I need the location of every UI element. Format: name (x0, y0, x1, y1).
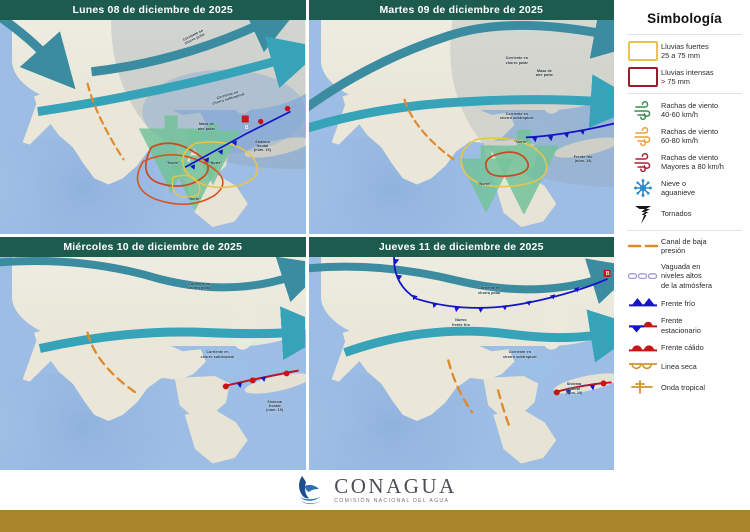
legend-label-wind-80-plus: Rachas de viento Mayores a 80 km/h (661, 153, 724, 172)
frontal-system-label: Sistema frontal (núm. 19) (260, 400, 290, 413)
wind-gust-red-icon (625, 152, 661, 172)
jet-arrow-polar (0, 260, 291, 286)
jet-polar-label: Corriente en chorro polar (467, 286, 511, 294)
low-pressure-trough-1 (448, 360, 472, 412)
jet-polar-label: Corriente en chorro polar (177, 282, 221, 290)
panel-miercoles-overlay (0, 257, 305, 451)
legend-label-cold-front: Frente frío (661, 299, 695, 308)
legend-label-trough: Canal de baja presión (661, 237, 707, 256)
cold-front-label: Frente frío (núm. 19) (568, 155, 598, 163)
low-pressure-marker: B (243, 126, 250, 132)
legend-label-snow: Nieve o aguanieve (661, 179, 695, 198)
footer-gold-bar (0, 510, 750, 532)
tornado-icon (625, 204, 661, 224)
stationary-front-icon (625, 318, 661, 334)
jet-subtropical-label: Corriente en chorro subtropical (192, 350, 242, 358)
cold-front-icon (625, 296, 661, 310)
wind-gust-orange-icon (625, 126, 661, 146)
upper-level-trough-icon (625, 271, 661, 281)
norte-label-1: "Norte" (162, 161, 184, 165)
legend-label-dry-line: Linea seca (661, 362, 697, 371)
legend-item-dry-line[interactable]: Linea seca (625, 360, 744, 373)
legend-label-tropical-wave: Onda tropical (661, 383, 705, 392)
panel-lunes-map: Corriente en chorro polar Corriente en c… (0, 20, 306, 234)
norte-label-2: "Norte" (205, 161, 227, 165)
legend-panel: Simbología Lluvias fuertes 25 a 75 mm Ll… (617, 0, 750, 470)
panel-miercoles[interactable]: Miércoles 10 de diciembre de 2025 (0, 237, 306, 471)
conagua-logo: CONAGUA COMISIÓN NACIONAL DEL AGUA (293, 473, 457, 507)
legend-item-snow[interactable]: Nieve o aguanieve (625, 178, 744, 198)
legend-item-upper-trough[interactable]: Vaguada en niveles altos de la atmósfera (625, 262, 744, 290)
panel-jueves-map: Corriente en chorro polar Corriente en c… (309, 257, 615, 471)
panel-martes-title: Martes 09 de diciembre de 2025 (309, 0, 615, 20)
jet-subtropical-label: Corriente en chorro subtropical (495, 350, 545, 358)
legend-label-tornado: Tornados (661, 209, 691, 218)
legend-item-tropical-wave[interactable]: Onda tropical (625, 379, 744, 395)
forecast-map-grid: Lunes 08 de diciembre de 2025 (0, 0, 614, 470)
legend-item-cold-front[interactable]: Frente frío (625, 296, 744, 310)
legend-item-warm-front[interactable]: Frente cálido (625, 341, 744, 354)
dry-line-icon (625, 360, 661, 373)
legend-item-trough[interactable]: Canal de baja presión (625, 237, 744, 256)
tropical-wave-icon (625, 379, 661, 395)
jet-subtropical-label: Corriente en chorro subtropical (492, 112, 542, 120)
low-pressure-trough-2 (498, 390, 510, 428)
polar-air-mass-label: Masa de aire polar (189, 122, 223, 130)
panel-jueves-overlay (309, 257, 614, 451)
jet-arrow-subtropical (40, 331, 291, 348)
low-pressure-marker: B (604, 272, 611, 278)
low-pressure-box (242, 116, 249, 123)
panel-miercoles-title: Miércoles 10 de diciembre de 2025 (0, 237, 306, 257)
legend-item-stationary-front[interactable]: Frente estacionario (625, 316, 744, 335)
panel-lunes[interactable]: Lunes 08 de diciembre de 2025 (0, 0, 306, 234)
norte-label-1: "Norte" (510, 140, 532, 144)
jet-polar-label: Corriente en chorro polar (495, 56, 539, 64)
norte-label-2: "Norte" (473, 182, 495, 186)
frontal-system-label: Sistema frontal (núm. 19) (559, 382, 589, 395)
frontal-system-label: Sistema frontal (núm. 19) (247, 140, 277, 153)
legend-label-heavy-rain: Lluvias fuertes 25 a 75 mm (661, 42, 709, 61)
rain-box-red-icon (625, 67, 661, 87)
legend-label-wind-60-80: Rachas de viento 60-80 km/h (661, 127, 718, 146)
legend-label-upper-trough: Vaguada en niveles altos de la atmósfera (661, 262, 712, 290)
panel-miercoles-map: Corriente en chorro polar Corriente en c… (0, 257, 306, 471)
warm-front-icon (625, 341, 661, 354)
legend-divider-1 (627, 34, 742, 35)
panel-martes[interactable]: Martes 09 de diciembre de 2025 (309, 0, 615, 234)
jet-arrow-subtropical (344, 331, 599, 352)
weather-forecast-page: Lunes 08 de diciembre de 2025 (0, 0, 750, 532)
legend-item-wind-40-60[interactable]: Rachas de viento 40-60 km/h (625, 100, 744, 120)
conagua-logo-name: CONAGUA (334, 476, 457, 497)
legend-title: Simbología (625, 11, 744, 26)
legend-label-intense-rain: Lluvias intensas > 75 mm (661, 68, 714, 87)
jet-arrow-polar (309, 266, 600, 289)
polar-air-mass-label: Masa de aire polar (528, 69, 560, 77)
legend-item-tornado[interactable]: Tornados (625, 204, 744, 224)
wind-gust-green-icon (625, 100, 661, 120)
rain-box-yellow-icon (625, 41, 661, 61)
panel-martes-overlay (309, 20, 614, 214)
norte-label-3: "Norte" (183, 197, 205, 201)
panel-lunes-overlay (0, 20, 305, 214)
legend-item-intense-rain[interactable]: Lluvias intensas > 75 mm (625, 67, 744, 87)
legend-item-wind-60-80[interactable]: Rachas de viento 60-80 km/h (625, 126, 744, 146)
legend-item-wind-80-plus[interactable]: Rachas de viento Mayores a 80 km/h (625, 152, 744, 172)
legend-divider-2 (627, 93, 742, 94)
legend-label-warm-front: Frente cálido (661, 343, 704, 352)
panel-lunes-title: Lunes 08 de diciembre de 2025 (0, 0, 306, 20)
jet-arrow-polar-west (0, 20, 46, 56)
footer: CONAGUA COMISIÓN NACIONAL DEL AGUA (0, 470, 750, 510)
legend-label-wind-40-60: Rachas de viento 40-60 km/h (661, 101, 718, 120)
snow-sleet-icon (625, 178, 661, 198)
conagua-water-eagle-icon (293, 473, 327, 507)
conagua-logo-subtitle: COMISIÓN NACIONAL DEL AGUA (334, 499, 457, 504)
legend-label-stationary-front: Frente estacionario (661, 316, 701, 335)
panel-martes-map: Corriente en chorro polar Corriente en c… (309, 20, 615, 234)
legend-divider-3 (627, 230, 742, 231)
low-pressure-trough-icon (625, 241, 661, 251)
conagua-logo-text: CONAGUA COMISIÓN NACIONAL DEL AGUA (334, 476, 457, 504)
panel-jueves-title: Jueves 11 de diciembre de 2025 (309, 237, 615, 257)
panel-jueves[interactable]: Jueves 11 de diciembre de 2025 (309, 237, 615, 471)
legend-item-heavy-rain[interactable]: Lluvias fuertes 25 a 75 mm (625, 41, 744, 61)
new-cold-front-label: Nuevo frente frío (446, 318, 476, 326)
